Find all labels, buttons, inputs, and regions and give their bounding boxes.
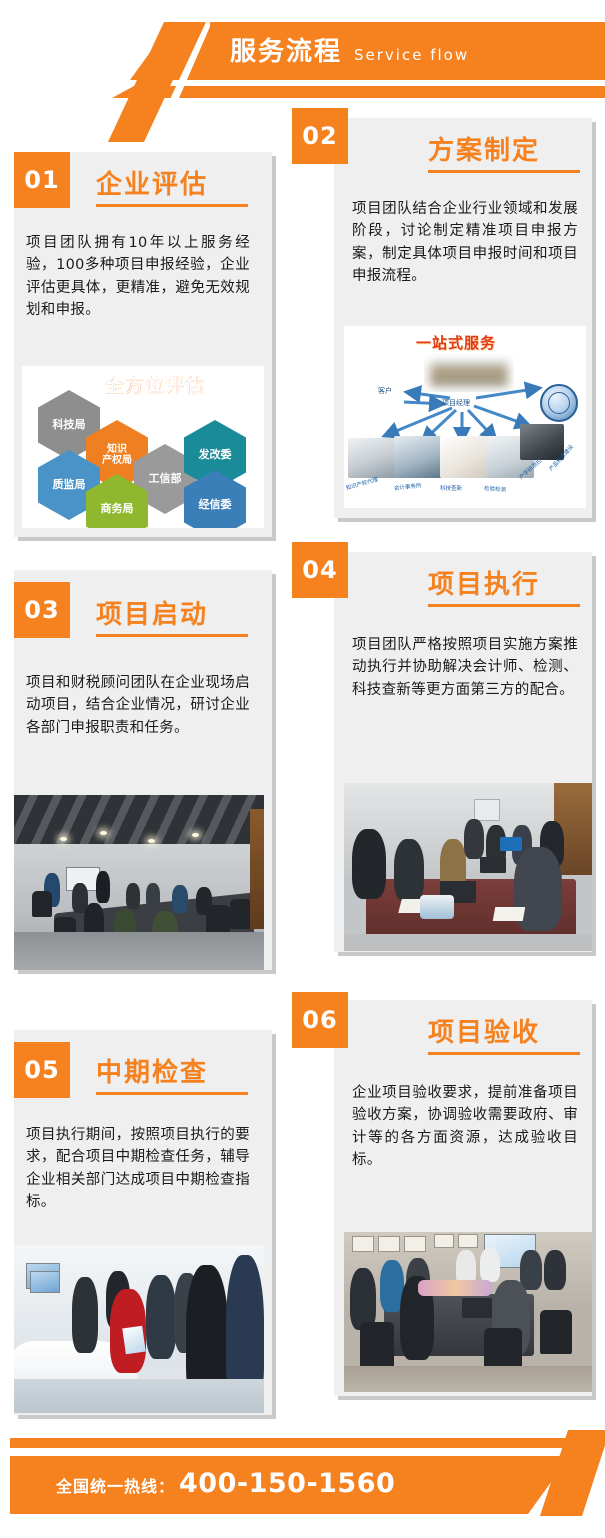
one-stop-service-label-3: 检验检测 [484, 484, 507, 494]
card-05-number: 05 [24, 1056, 59, 1084]
card-01-number-badge: 01 [14, 152, 70, 208]
hex-node-label: 工信部 [149, 473, 182, 486]
photo-floor [14, 1379, 264, 1413]
one-stop-client-label: 客户 [378, 386, 392, 396]
card-06-number-badge: 06 [292, 992, 348, 1048]
photo-wall-certificate [352, 1236, 374, 1252]
photo-person [394, 839, 424, 901]
card-02-title: 方案制定 [428, 130, 540, 167]
photo-ceiling-light [100, 831, 107, 835]
page-title: 服务流程 [230, 30, 342, 74]
card-01-title: 企业评估 [96, 164, 208, 201]
page-subtitle: Service flow [354, 46, 469, 64]
photo-person [96, 871, 110, 903]
one-stop-service-label-2: 科技查新 [440, 484, 462, 492]
footer-phone-number[interactable]: 400-150-1560 [179, 1468, 395, 1499]
photo-ceiling-light [148, 839, 155, 843]
card-03-title-underline [96, 634, 248, 637]
photo-ac-unit [474, 799, 500, 821]
photo-bag [420, 895, 454, 919]
card-03-photo-conference-room [14, 795, 264, 970]
photo-chair [360, 1322, 394, 1368]
card-04-number-badge: 04 [292, 542, 348, 598]
card-06-title: 项目验收 [428, 1012, 540, 1049]
card-03-number: 03 [24, 596, 59, 624]
card-02-body: 项目团队结合企业行业领域和发展阶段，讨论制定精准项目申报方案，制定具体项目申报时… [352, 198, 578, 288]
photo-person [520, 1250, 542, 1290]
photo-ceiling-light [60, 837, 67, 841]
card-05-title-underline [96, 1092, 248, 1095]
hex-node-label: 商务局 [101, 503, 134, 516]
header-orange-stripe [112, 86, 605, 98]
hex-node-label: 发改委 [199, 449, 232, 462]
hex-diagram-title: 全方位评估 [104, 370, 204, 397]
photo-person [146, 1275, 176, 1359]
card-05-number-badge: 05 [14, 1042, 70, 1098]
photo-person [72, 1277, 98, 1353]
photo-laptop [480, 857, 506, 873]
one-stop-thumb-accounting [394, 436, 442, 478]
card-03-number-badge: 03 [14, 582, 70, 638]
photo-chair [540, 1310, 572, 1354]
card-05-photo-site-visit [14, 1245, 264, 1413]
card-06-photo-acceptance-meeting [344, 1232, 592, 1392]
photo-document [493, 907, 525, 921]
photo-floor [14, 932, 264, 971]
photo-floor [344, 934, 592, 951]
photo-chair [32, 891, 52, 917]
hex-node-label: 科技局 [53, 419, 86, 432]
footer-hotline-label: 全国统一热线： [56, 1473, 175, 1497]
hex-node-label: 质监局 [53, 479, 86, 492]
footer-orange-stripe [10, 1438, 570, 1448]
photo-person [126, 883, 140, 909]
photo-wood-panel [250, 809, 264, 929]
card-01-body: 项目团队拥有10年以上服务经验，100多种项目申报经验，企业评估更具体，更精准，… [26, 232, 250, 322]
card-05-title: 中期检查 [96, 1052, 208, 1089]
infographic-page: 服务流程 Service flow 01 企业评估 项目团队拥有10年以上服务经… [0, 0, 605, 1538]
card-05-body: 项目执行期间，按照项目执行的要求，配合项目中期检查任务，辅导企业相关部门达成项目… [26, 1124, 250, 1214]
card-03-body: 项目和财税顾问团队在企业现场启动项目，结合企业情况，研讨企业各部门申报职责和任务… [26, 672, 250, 739]
card-03-title: 项目启动 [96, 594, 208, 631]
card-04-number: 04 [302, 556, 337, 584]
photo-person [480, 1248, 500, 1282]
photo-floor [344, 1366, 592, 1392]
card-01-number: 01 [24, 166, 59, 194]
card-02-number: 02 [302, 122, 337, 150]
photo-laptop [500, 837, 522, 851]
photo-brochure [122, 1326, 145, 1355]
card-06-title-underline [428, 1052, 580, 1055]
card-04-title: 项目执行 [428, 564, 540, 601]
card-06-number: 06 [302, 1006, 337, 1034]
hex-diagram-panel: 全方位评估 科技局 知识产权局 质监局 工信部 商务局 发改委 经信委 [22, 366, 264, 528]
photo-person [172, 885, 188, 913]
photo-person [352, 829, 386, 899]
photo-wall-certificate [404, 1236, 426, 1252]
hex-node-label: 知识产权局 [102, 444, 132, 467]
footer-hotline-group: 全国统一热线： 400-150-1560 [56, 1468, 395, 1502]
photo-wall-certificate [434, 1234, 454, 1248]
header-title-group: 服务流程 Service flow [230, 30, 590, 74]
one-stop-thumb-ip [348, 438, 396, 478]
photo-laptop [462, 1298, 492, 1318]
one-stop-service-panel: 一站式服务 客户 项目经理 [344, 326, 586, 508]
photo-ceiling-light [192, 833, 199, 837]
one-stop-thumb-consult [440, 436, 488, 478]
footer-banner: 全国统一热线： 400-150-1560 [0, 1420, 605, 1538]
card-01-title-underline [96, 204, 248, 207]
photo-wall-certificate [458, 1234, 478, 1248]
photo-person [146, 883, 160, 909]
card-04-body: 项目团队严格按照项目实施方案推动执行并协助解决会计师、检测、科技查新等更方面第三… [352, 634, 578, 701]
photo-flowers [418, 1280, 492, 1296]
card-02-number-badge: 02 [292, 108, 348, 164]
photo-person [544, 1250, 566, 1290]
card-04-photo-meeting-laptops [344, 783, 592, 951]
photo-wall-certificate [378, 1236, 400, 1252]
photo-person [464, 819, 484, 859]
photo-chair [230, 899, 252, 929]
one-stop-center-label: 项目经理 [442, 398, 470, 408]
hex-node-label: 经信委 [199, 499, 232, 512]
photo-person [350, 1268, 376, 1330]
card-06-body: 企业项目验收要求，提前准备项目验收方案，协调验收需要政府、审计等的各方面资源，达… [352, 1082, 578, 1172]
card-04-title-underline [428, 604, 580, 607]
photo-display-monitor [30, 1271, 60, 1293]
one-stop-seal-icon [540, 384, 578, 422]
card-02-title-underline [428, 170, 580, 173]
